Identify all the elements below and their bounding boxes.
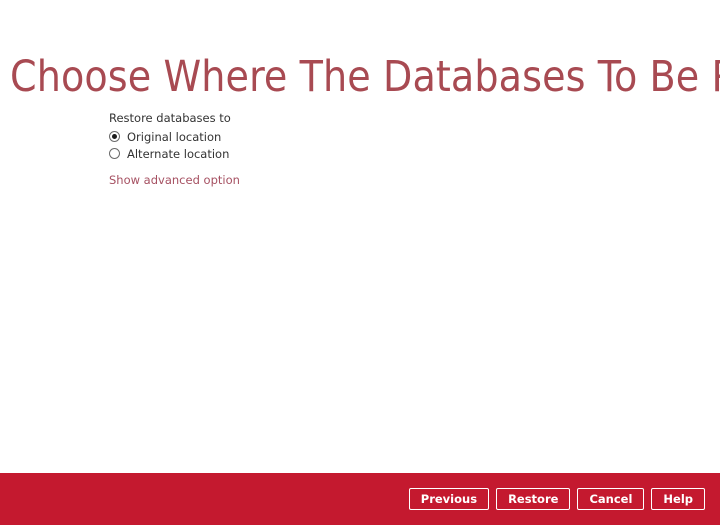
footer-action-bar: Previous Restore Cancel Help xyxy=(0,473,720,525)
restore-databases-to-label: Restore databases to xyxy=(109,110,529,126)
restore-button[interactable]: Restore xyxy=(496,488,570,510)
restore-location-form: Restore databases to Original location A… xyxy=(109,110,529,188)
cancel-button[interactable]: Cancel xyxy=(577,488,644,510)
radio-original-location-icon[interactable] xyxy=(109,131,120,142)
radio-alternate-location-icon[interactable] xyxy=(109,148,120,159)
restore-wizard-page: Choose Where The Databases To Be Restore… xyxy=(0,0,720,525)
radio-option-alternate-location[interactable]: Alternate location xyxy=(109,145,529,162)
radio-alternate-location-label: Alternate location xyxy=(127,146,229,162)
previous-button[interactable]: Previous xyxy=(409,488,489,510)
page-title: Choose Where The Databases To Be Restore… xyxy=(10,53,705,101)
help-button[interactable]: Help xyxy=(651,488,705,510)
radio-original-location-label: Original location xyxy=(127,129,221,145)
show-advanced-option-link[interactable]: Show advanced option xyxy=(109,172,240,188)
radio-option-original-location[interactable]: Original location xyxy=(109,128,529,145)
